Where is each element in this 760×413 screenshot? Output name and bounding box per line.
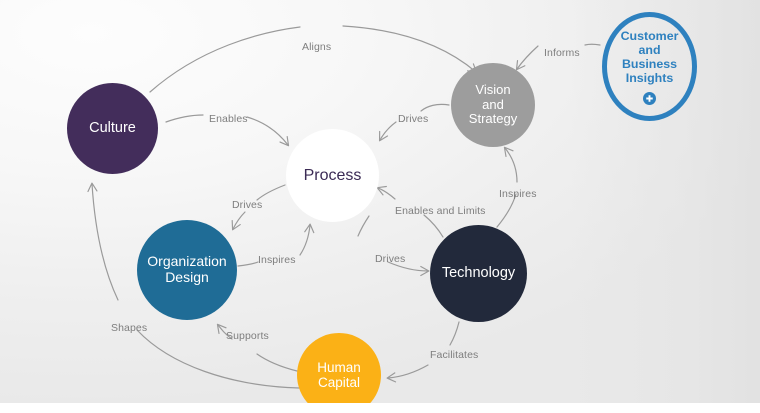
edge-path-vision-process-b [380,122,396,140]
plus-icon[interactable] [643,92,656,105]
edge-path-culture-process-a [166,115,203,122]
edge-label-vision-process: Drives [398,113,428,125]
edge-path-culture-vision-a [150,27,300,92]
node-culture-label: Culture [85,120,140,136]
edge-label-process-tech: Drives [375,253,405,265]
node-process-label: Process [300,167,366,185]
node-vision-and-strategy[interactable]: Vision and Strategy [451,63,535,147]
edge-path-process-orgdesign-a [257,185,285,200]
edge-path-culture-process-b [247,117,288,145]
edge-label-orgdesign-process: Inspires [258,254,296,266]
edge-path-insights-vision-a [585,44,600,45]
node-technology-label: Technology [438,265,519,281]
edge-path-tech-process-a [424,215,443,237]
edge-path-culture-vision-b [343,26,476,72]
edge-path-human-culture-a [137,330,299,388]
node-human-capital-label: Human Capital [313,360,365,390]
node-customer-and-business-insights[interactable]: Customer and Business Insights [602,12,697,121]
edge-path-orgdesign-process-a [238,262,258,266]
edge-path-human-orgdesign-a [257,354,297,371]
edge-path-human-culture-b [92,184,118,300]
edge-path-tech-process-b [378,188,395,199]
node-organization-design[interactable]: Organization Design [137,220,237,320]
node-vision-label: Vision and Strategy [465,83,521,127]
edge-label-culture-vision: Aligns [302,41,331,53]
node-technology[interactable]: Technology [430,225,527,322]
node-orgdesign-label: Organization Design [143,254,230,285]
bottom-band [0,403,760,413]
edge-label-human-culture: Shapes [111,322,147,334]
edge-path-insights-vision-b [517,46,538,69]
edge-path-tech-human-a [450,322,459,345]
edge-path-tech-vision-b [505,148,517,182]
edge-path-orgdesign-process-b [300,225,310,255]
edge-label-process-orgdesign: Drives [232,199,262,211]
node-human-capital[interactable]: Human Capital [297,333,381,413]
edge-label-tech-process: Enables and Limits [395,205,486,217]
edge-label-tech-vision: Inspires [499,188,537,200]
edge-path-process-orgdesign-b [233,212,245,229]
edge-path-vision-process-a [421,104,449,111]
edge-label-tech-human: Facilitates [430,349,478,361]
edge-label-human-orgdesign: Supports [226,330,269,342]
node-culture[interactable]: Culture [67,83,158,174]
edge-path-process-tech-a [358,216,369,236]
node-process[interactable]: Process [286,129,379,222]
edge-path-tech-human-b [388,365,428,378]
edge-label-culture-process: Enables [209,113,248,125]
edge-label-insights-vision: Informs [544,47,580,59]
diagram-canvas: Aligns Informs Enables Drives Drives Ins… [0,0,760,413]
node-insights-label: Customer and Business Insights [607,28,692,86]
